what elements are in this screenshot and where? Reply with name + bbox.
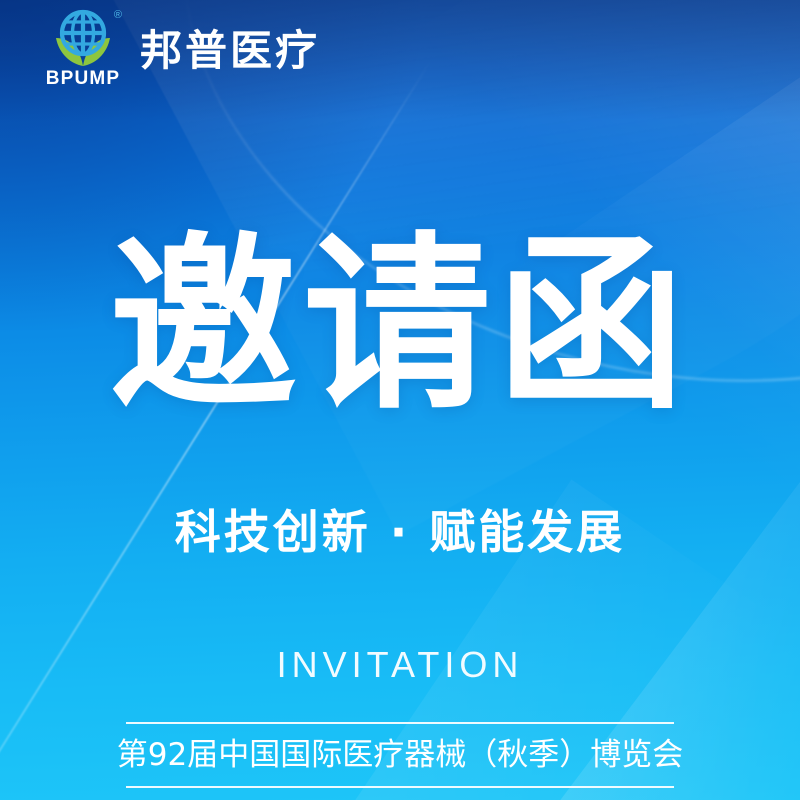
bpump-logo: ® BPUMP xyxy=(44,8,122,92)
invitation-poster: ® BPUMP 邦普医疗 邀请函 科技创新 · 赋能发展 INVITATION … xyxy=(0,0,800,800)
divider-bottom xyxy=(126,786,674,788)
poster-content: 邀请函 科技创新 · 赋能发展 INVITATION xyxy=(0,0,800,800)
english-label: INVITATION xyxy=(0,644,800,686)
event-name: 第92届中国国际医疗器械（秋季）博览会 xyxy=(117,724,683,786)
headline-invitation: 邀请函 xyxy=(0,232,800,420)
tagline: 科技创新 · 赋能发展 xyxy=(0,505,800,560)
bpump-wordmark: BPUMP xyxy=(46,69,121,88)
company-name: 邦普医疗 xyxy=(140,30,320,72)
brand-lockup: ® BPUMP 邦普医疗 xyxy=(44,8,320,92)
event-footer: 第92届中国国际医疗器械（秋季）博览会 xyxy=(126,722,674,788)
registered-mark-icon: ® xyxy=(114,10,122,21)
bpump-globe-leaf-icon: ® xyxy=(45,8,121,70)
